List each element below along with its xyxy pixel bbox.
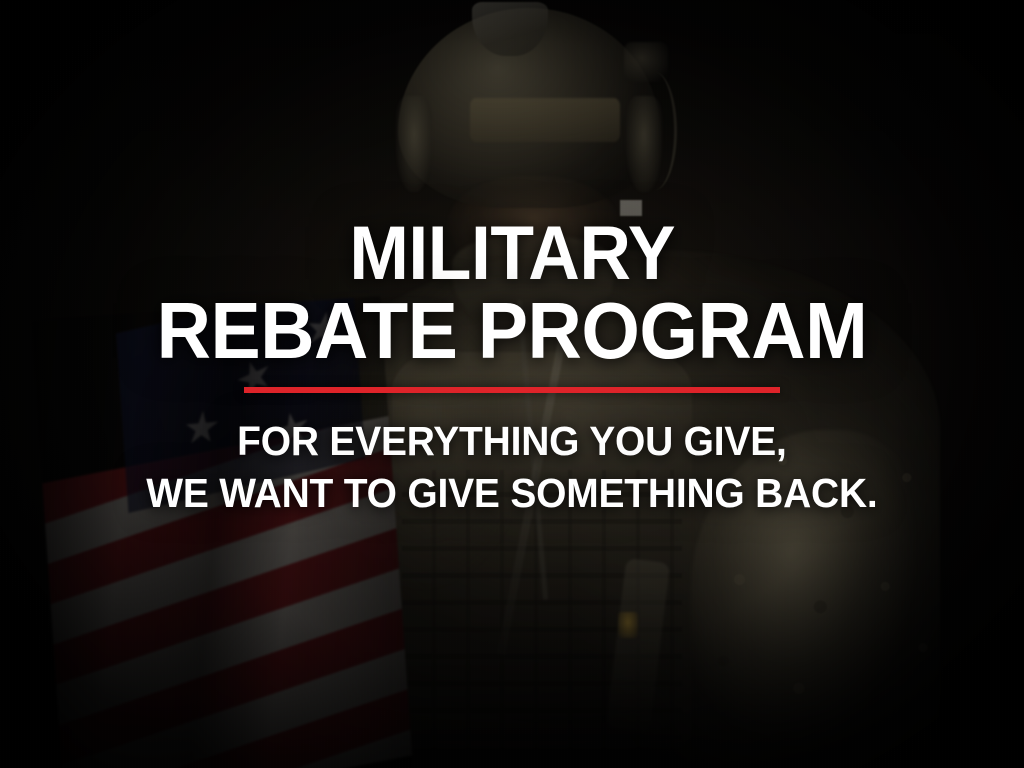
digital-camo-sleeve-icon xyxy=(680,430,950,768)
military-rebate-poster: MILITARY REBATE PROGRAM FOR EVERYTHING Y… xyxy=(0,0,1024,768)
american-flag-icon xyxy=(31,296,413,768)
helmet-rail-left xyxy=(396,96,432,192)
helmet-id-tag xyxy=(620,200,642,216)
background-photo xyxy=(0,0,1024,768)
flag-fold-shading xyxy=(31,296,413,768)
helmet-velcro-patch xyxy=(470,98,620,142)
vest-accent-patch xyxy=(618,612,638,638)
